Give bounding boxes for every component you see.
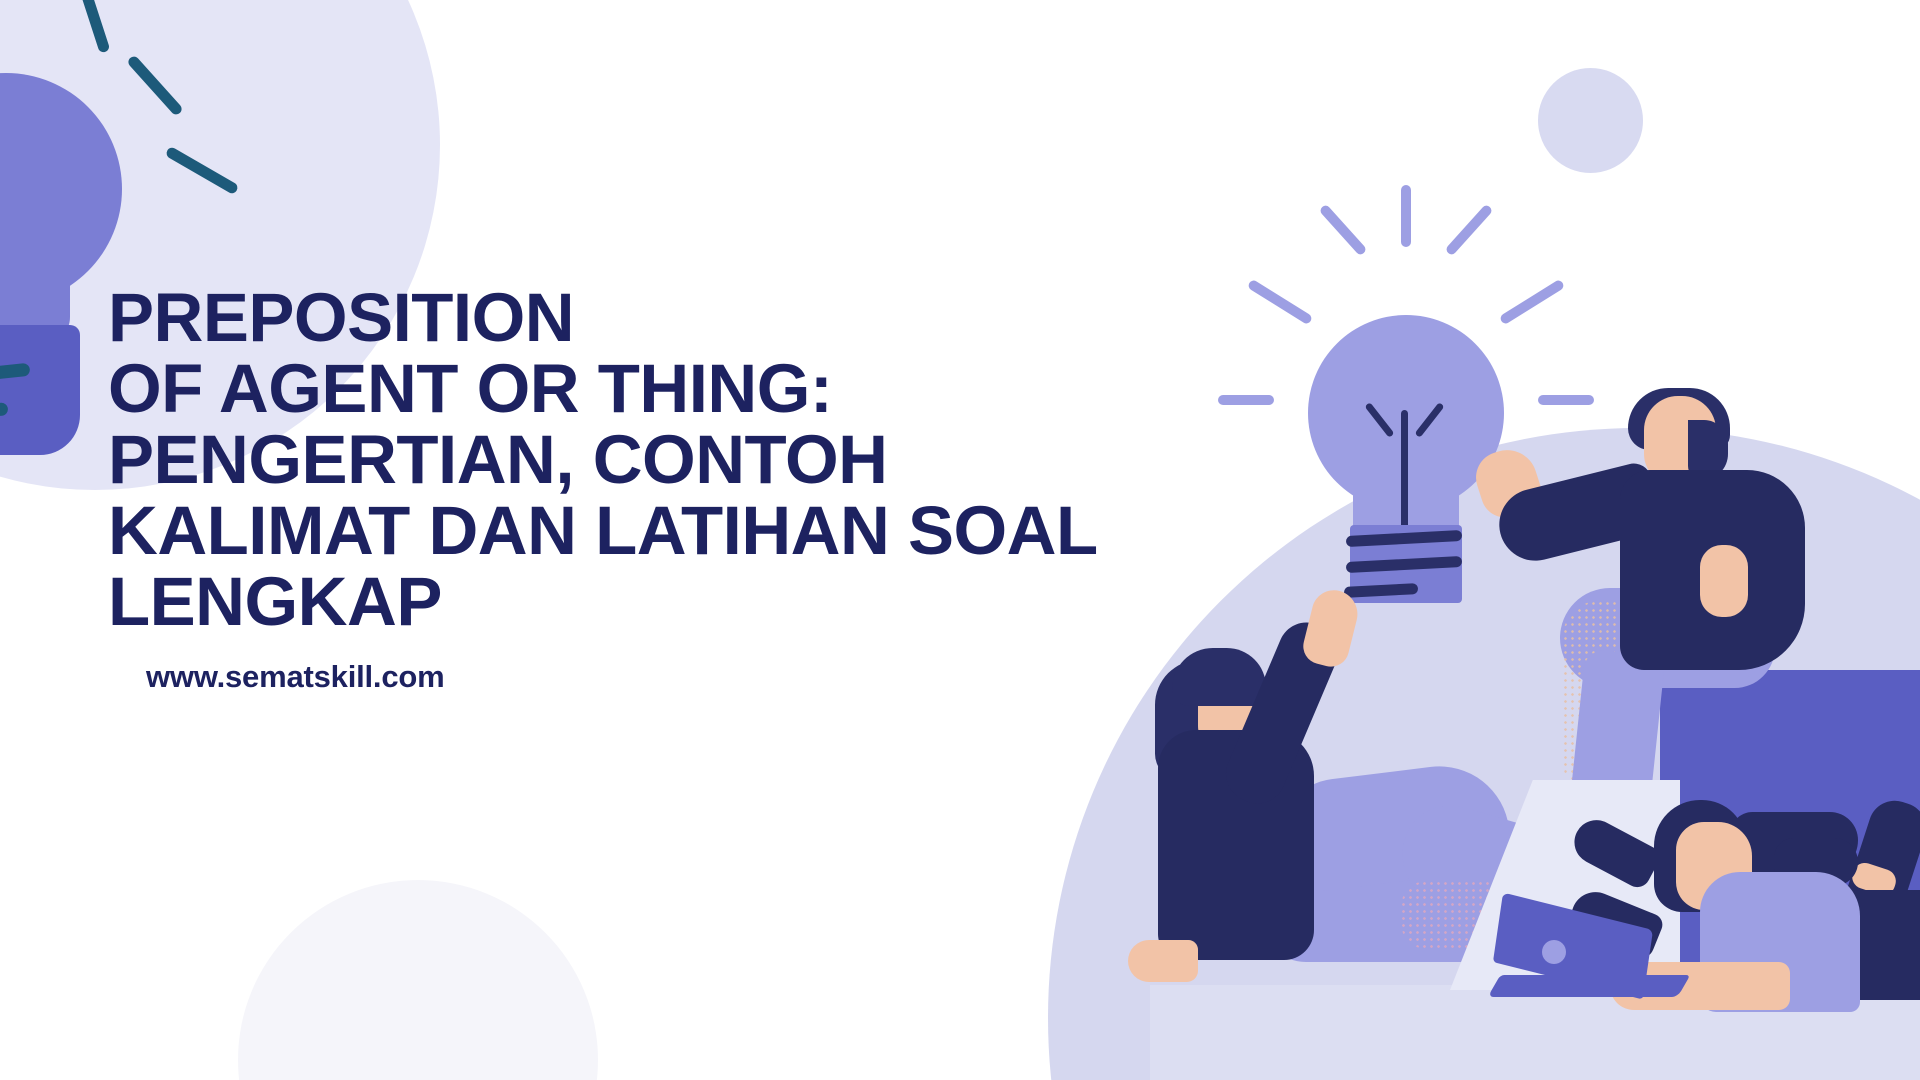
bulb-ray xyxy=(1401,185,1411,247)
hand xyxy=(1700,545,1748,617)
decorative-circle-top-right xyxy=(1538,68,1643,173)
text-block: PREPOSITION OF AGENT OR THING: PENGERTIA… xyxy=(108,282,1098,695)
hair-top xyxy=(1172,648,1266,706)
bulb-ray xyxy=(1218,395,1274,405)
bulb-base-stripe xyxy=(0,363,30,385)
bulb-base-stripe xyxy=(0,402,9,421)
bulb-ray xyxy=(1247,279,1313,326)
foot xyxy=(1128,940,1198,982)
bulb-ray xyxy=(1319,204,1368,257)
laptop-logo-dot xyxy=(1542,940,1566,964)
bulb-base xyxy=(0,325,80,455)
bulb-ray xyxy=(1538,395,1594,405)
decorative-circle-bottom-left xyxy=(238,880,598,1080)
site-url: www.sematskill.com xyxy=(146,659,1098,695)
bulb-ray xyxy=(1499,279,1565,326)
bulb-ray xyxy=(1445,204,1494,257)
page-title: PREPOSITION OF AGENT OR THING: PENGERTIA… xyxy=(108,282,1098,637)
laptop-icon-base xyxy=(1488,975,1691,997)
bulb-filament xyxy=(1401,410,1408,530)
banner-canvas: PREPOSITION OF AGENT OR THING: PENGERTIA… xyxy=(0,0,1920,1080)
